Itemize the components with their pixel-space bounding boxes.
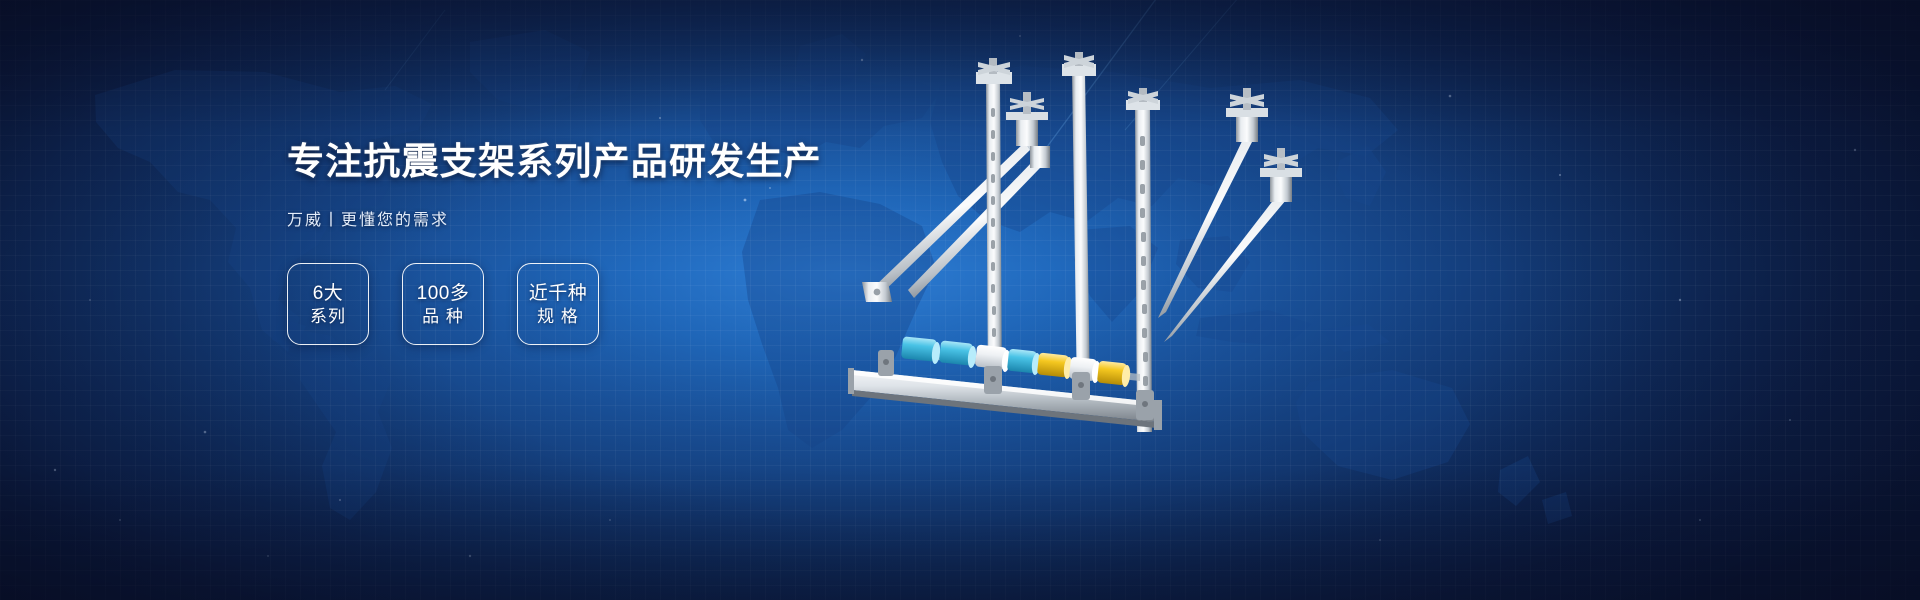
hero-banner: 专注抗震支架系列产品研发生产 万威丨更懂您的需求 6大 系列 100多 品 种 … [0,0,1920,600]
badge-series-line1: 6大 [313,284,344,303]
badge-varieties-line2: 品 种 [422,308,464,325]
badge-series[interactable]: 6大 系列 [287,263,369,345]
badge-specifications-line2: 规 格 [537,308,579,325]
banner-subtitle: 万威丨更懂您的需求 [287,206,847,230]
badge-series-line2: 系列 [310,308,346,325]
badge-group: 6大 系列 100多 品 种 近千种 规 格 [287,263,847,345]
badge-varieties-line1: 100多 [417,284,470,303]
banner-headline: 专注抗震支架系列产品研发生产 [287,143,847,180]
product-image-seismic-bracing [840,50,1340,450]
badge-varieties[interactable]: 100多 品 种 [402,263,484,345]
badge-specifications[interactable]: 近千种 规 格 [517,263,599,345]
badge-specifications-line1: 近千种 [529,284,588,303]
banner-copy: 专注抗震支架系列产品研发生产 万威丨更懂您的需求 6大 系列 100多 品 种 … [287,143,847,345]
